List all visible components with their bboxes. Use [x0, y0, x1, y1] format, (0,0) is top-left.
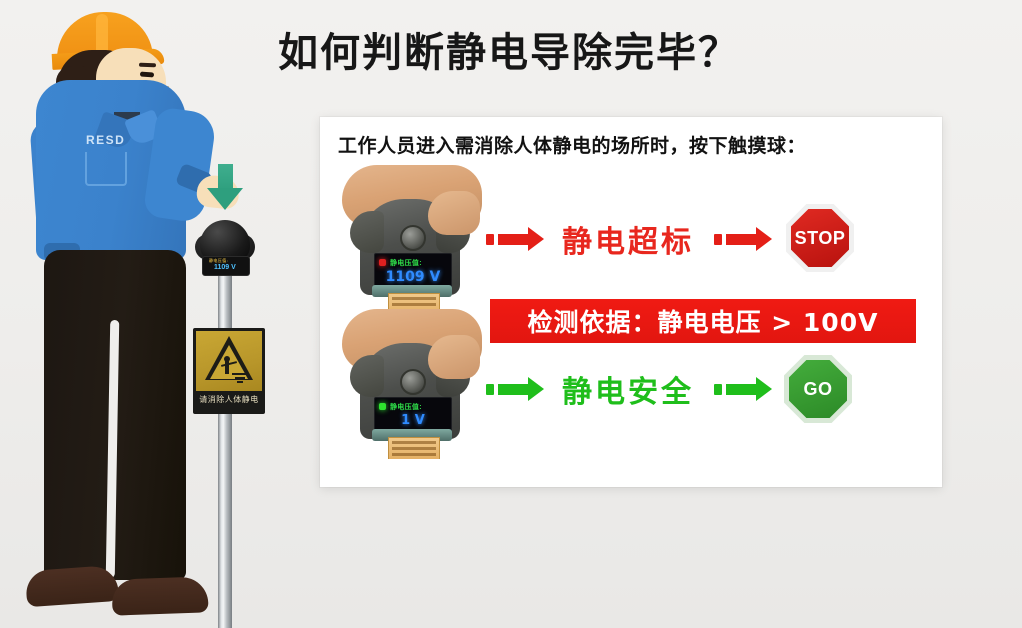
- stop-sign-label: STOP: [791, 209, 849, 267]
- tester-screen: 静电压值: 1 V: [374, 397, 452, 433]
- screen-value: 1109 V: [375, 269, 451, 285]
- tester-label: [388, 437, 440, 459]
- eye: [140, 72, 154, 78]
- slide-canvas: 如何判断静电导除完毕？ RESD: [0, 0, 1022, 628]
- chest-pocket: [85, 152, 127, 186]
- left-shoe: [25, 565, 119, 607]
- device-photo-over-limit: 静电压值: 1109 V: [332, 165, 484, 315]
- stand-display-value: 1109 V: [214, 264, 236, 271]
- arrow-right-icon: [714, 227, 772, 251]
- tester-sensor-icon: [400, 225, 426, 251]
- hand-thumb: [428, 191, 480, 235]
- arrow-right-icon: [486, 377, 544, 401]
- tester-screen: 静电压值: 1109 V: [374, 253, 452, 289]
- criteria-banner-text: 检测依据：静电电压 > 100V: [528, 303, 879, 339]
- info-panel: 工作人员进入需消除人体静电的场所时，按下触摸球： 静电压值: 1109 V: [320, 117, 942, 487]
- esd-tester-stand: 静电压值: 1109 V 请消除人体静电: [186, 160, 296, 620]
- tester-grip-left: [350, 211, 384, 253]
- screen-label: 静电压值:: [390, 258, 422, 268]
- row-over-limit: 静电超标 STOP: [486, 211, 926, 265]
- tester-grip-left: [350, 355, 384, 397]
- warning-sign: 请消除人体静电: [193, 328, 265, 414]
- ground-symbol-icon: [232, 373, 248, 375]
- warning-sign-text: 请消除人体静电: [193, 394, 265, 405]
- go-sign: GO: [784, 355, 852, 423]
- screen-value: 1 V: [375, 413, 451, 428]
- row-safe: 静电安全 GO: [486, 359, 926, 415]
- panel-header-text: 工作人员进入需消除人体静电的场所时，按下触摸球：: [338, 131, 806, 158]
- uniform-logo: RESD: [86, 133, 125, 147]
- criteria-banner: 检测依据：静电电压 > 100V: [490, 299, 916, 343]
- device-photo-safe: 静电压值: 1 V: [332, 309, 484, 459]
- tester-sensor-icon: [400, 369, 426, 395]
- status-led: [379, 403, 386, 410]
- safe-phrase: 静电安全: [562, 367, 694, 411]
- status-led: [379, 259, 386, 266]
- arrow-right-icon: [486, 227, 544, 251]
- over-limit-phrase: 静电超标: [562, 217, 694, 261]
- stand-pole: [218, 272, 232, 628]
- screen-label: 静电压值:: [390, 402, 422, 412]
- stand-display: 静电压值: 1109 V: [202, 256, 250, 276]
- go-sign-label: GO: [789, 360, 847, 418]
- stop-sign: STOP: [786, 204, 854, 272]
- page-title: 如何判断静电导除完毕？: [278, 20, 740, 78]
- warning-sign-face: [196, 331, 262, 391]
- eyebrow: [139, 63, 156, 68]
- arrow-right-icon: [714, 377, 772, 401]
- hand-thumb: [428, 335, 480, 379]
